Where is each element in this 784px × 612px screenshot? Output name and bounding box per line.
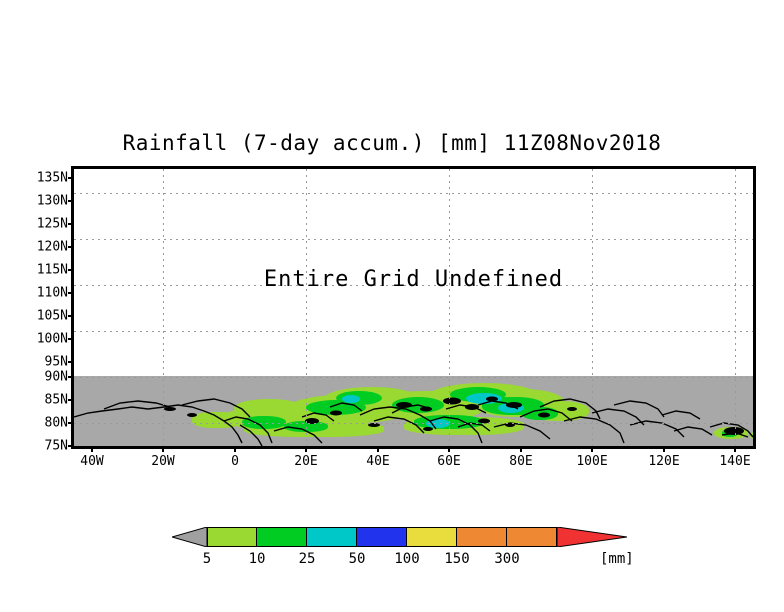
- colorbar-tick-label: 50: [349, 551, 366, 567]
- gridline-vertical: [306, 169, 307, 446]
- colorbar-tick-label: 100: [394, 551, 419, 567]
- x-axis-label: 120E: [648, 454, 679, 469]
- x-axis-label: 20E: [294, 454, 317, 469]
- gridline-vertical: [449, 169, 450, 446]
- x-axis-tick: [305, 446, 307, 452]
- y-axis-label: 125N: [8, 217, 68, 232]
- colorbar-under-arrow: [172, 527, 207, 547]
- y-axis-label: 100N: [8, 332, 68, 347]
- gridline-vertical: [735, 169, 736, 446]
- y-axis-tick: [68, 177, 74, 179]
- y-axis-tick: [68, 422, 74, 424]
- map-plot-frame[interactable]: Entire Grid Undefined 135N 130N 125N 120…: [71, 166, 756, 449]
- gridline-vertical: [592, 169, 593, 446]
- x-axis-tick: [448, 446, 450, 452]
- colorbar-swatches: [207, 527, 557, 547]
- gridline-horizontal: [74, 377, 753, 378]
- x-axis-label: 100E: [576, 454, 607, 469]
- colorbar-swatch: [307, 527, 357, 547]
- x-axis-tick: [591, 446, 593, 452]
- x-axis-tick: [734, 446, 736, 452]
- undefined-grid-message: Entire Grid Undefined: [74, 267, 753, 292]
- y-axis-tick: [68, 200, 74, 202]
- x-axis-tick: [520, 446, 522, 452]
- page-title: Rainfall (7-day accum.) [mm] 11Z08Nov201…: [0, 131, 784, 155]
- gridline-horizontal: [74, 239, 753, 240]
- x-axis-tick: [162, 446, 164, 452]
- x-axis-label: 40E: [366, 454, 389, 469]
- colorbar-swatch: [257, 527, 307, 547]
- y-axis-tick: [68, 338, 74, 340]
- y-axis-tick: [68, 399, 74, 401]
- y-axis-label: 130N: [8, 194, 68, 209]
- x-axis-label: 60E: [437, 454, 460, 469]
- gridline-horizontal: [74, 193, 753, 194]
- colorbar-tick-label: 25: [299, 551, 316, 567]
- colorbar[interactable]: 5 10 25 50 100 150 300 [mm]: [172, 527, 627, 549]
- colorbar-tick-label: 10: [249, 551, 266, 567]
- colorbar-unit-label: [mm]: [600, 551, 634, 567]
- colorbar-swatch: [507, 527, 557, 547]
- y-axis-label: 120N: [8, 240, 68, 255]
- y-axis-tick: [68, 315, 74, 317]
- x-axis-tick: [377, 446, 379, 452]
- gridline-vertical: [163, 169, 164, 446]
- x-axis-label: 40W: [80, 454, 103, 469]
- grads-map-page: Rainfall (7-day accum.) [mm] 11Z08Nov201…: [0, 0, 784, 612]
- y-axis-tick: [68, 376, 74, 378]
- y-axis-label: 80N: [8, 416, 68, 431]
- y-axis-tick: [68, 269, 74, 271]
- y-axis-tick: [68, 292, 74, 294]
- map-canvas: Entire Grid Undefined: [74, 169, 753, 446]
- colorbar-swatch: [457, 527, 507, 547]
- x-axis-tick: [663, 446, 665, 452]
- y-axis-tick: [68, 361, 74, 363]
- y-axis-label: 95N: [8, 355, 68, 370]
- x-axis-label: 20W: [151, 454, 174, 469]
- y-axis-label: 75N: [8, 439, 68, 454]
- x-axis-label: 140E: [719, 454, 750, 469]
- y-axis-label: 85N: [8, 393, 68, 408]
- y-axis-tick: [68, 246, 74, 248]
- y-axis-label: 105N: [8, 309, 68, 324]
- y-axis-label: 110N: [8, 286, 68, 301]
- colorbar-tick-label: 5: [203, 551, 211, 567]
- x-axis-label: 0: [231, 454, 239, 469]
- colorbar-swatch: [357, 527, 407, 547]
- y-axis-label: 135N: [8, 171, 68, 186]
- colorbar-over-arrow: [557, 527, 627, 547]
- colorbar-tick-label: 300: [494, 551, 519, 567]
- x-axis-label: 80E: [509, 454, 532, 469]
- gridline-horizontal: [74, 423, 753, 424]
- y-axis-label: 115N: [8, 263, 68, 278]
- x-axis-tick: [234, 446, 236, 452]
- colorbar-swatch: [407, 527, 457, 547]
- y-axis-label: 90N: [8, 370, 68, 385]
- x-axis-tick: [91, 446, 93, 452]
- y-axis-tick: [68, 223, 74, 225]
- coastline-overlay: [74, 169, 753, 446]
- y-axis-tick: [68, 445, 74, 447]
- gridline-horizontal: [74, 331, 753, 332]
- colorbar-swatch: [207, 527, 257, 547]
- colorbar-tick-label: 150: [444, 551, 469, 567]
